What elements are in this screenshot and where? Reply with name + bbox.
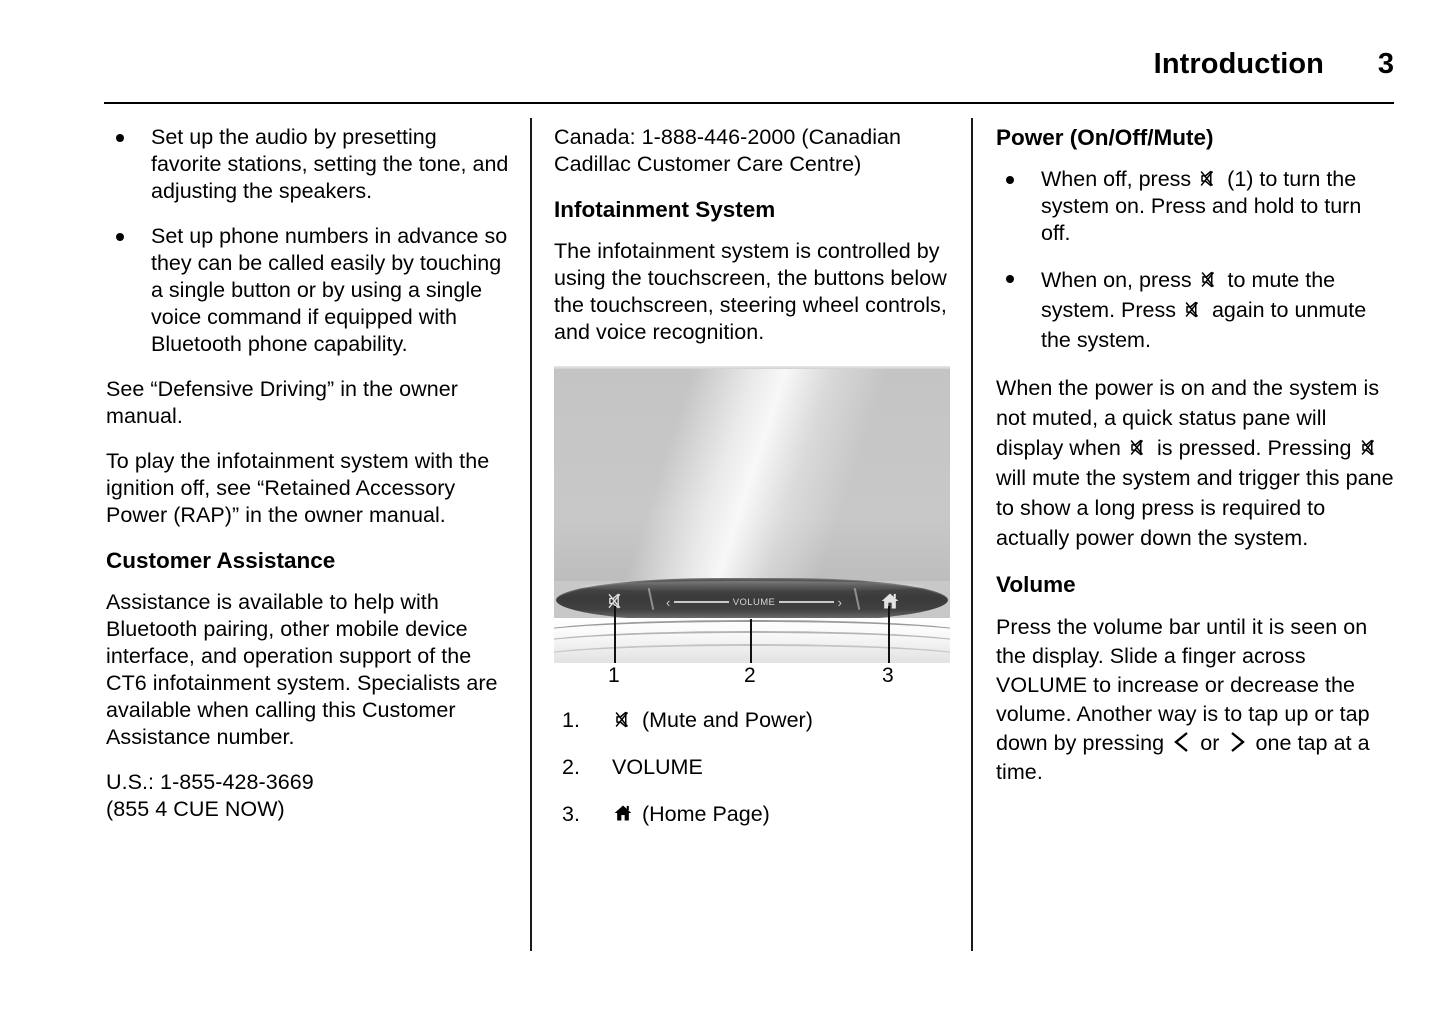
mute-icon bbox=[1183, 299, 1205, 320]
home-icon[interactable] bbox=[880, 591, 900, 611]
volume-chevron-left-icon[interactable]: ‹ bbox=[666, 596, 670, 609]
page-title: Introduction bbox=[1154, 48, 1324, 81]
paragraph-defensive-driving: See “Defensive Driving” in the owner man… bbox=[106, 376, 510, 430]
heading-infotainment-system: Infotainment System bbox=[554, 196, 956, 224]
bezel-tick-right-icon bbox=[854, 588, 860, 610]
paragraph-infotainment: The infotainment system is controlled by… bbox=[554, 238, 956, 346]
column-1: Set up the audio by presetting favorite … bbox=[106, 124, 510, 823]
list-item: 3. (Home Page) bbox=[554, 801, 950, 828]
legend-text: VOLUME bbox=[612, 755, 703, 779]
legend-text: (Mute and Power) bbox=[642, 708, 813, 732]
home-icon bbox=[613, 803, 635, 824]
infotainment-figure: ‹ VOLUME › bbox=[554, 366, 950, 828]
heading-volume: Volume bbox=[996, 571, 1396, 599]
bullet-text-part1: When off, press bbox=[1041, 167, 1191, 191]
paragraph-assistance: Assistance is available to help with Blu… bbox=[106, 589, 510, 751]
phone-canada: Canada: 1-888-446-2000 (Canadian Cadilla… bbox=[554, 124, 956, 178]
chevron-left-icon bbox=[1172, 730, 1192, 754]
legend-text: (Home Page) bbox=[642, 802, 770, 826]
power-bullet-list: When off, press (1) to turn the system o… bbox=[996, 166, 1396, 355]
column-2: Canada: 1-888-446-2000 (Canadian Cadilla… bbox=[554, 124, 956, 848]
bullet-dot-icon bbox=[116, 233, 124, 241]
volume-slider[interactable]: ‹ VOLUME › bbox=[666, 594, 842, 610]
bullet-text: Set up the audio by presetting favorite … bbox=[151, 125, 508, 203]
volume-chevron-right-icon[interactable]: › bbox=[838, 596, 842, 609]
mute-icon bbox=[613, 709, 635, 730]
legend-number: 2. bbox=[562, 754, 596, 781]
mute-icon bbox=[1198, 168, 1220, 189]
volume-line-left bbox=[674, 601, 728, 603]
setup-bullet-list: Set up the audio by presetting favorite … bbox=[106, 124, 510, 358]
mute-icon[interactable] bbox=[606, 591, 627, 611]
bezel-tick-left-icon bbox=[648, 588, 654, 610]
paragraph-quick-status-pane: When the power is on and the system is n… bbox=[996, 373, 1396, 553]
callout-leader-1 bbox=[614, 606, 616, 663]
page-number: 3 bbox=[1368, 48, 1394, 81]
phone-us-line2: (855 4 CUE NOW) bbox=[106, 797, 285, 821]
paragraph-volume: Press the volume bar until it is seen on… bbox=[996, 613, 1396, 787]
mute-icon bbox=[1359, 437, 1381, 458]
touchscreen-display bbox=[554, 366, 950, 581]
callout-leader-2 bbox=[750, 619, 752, 663]
volume-line-right bbox=[779, 601, 833, 603]
callout-leader-3 bbox=[888, 606, 890, 663]
mute-icon bbox=[1128, 437, 1150, 458]
heading-power: Power (On/Off/Mute) bbox=[996, 124, 1396, 152]
column-divider-left bbox=[530, 118, 532, 951]
list-item: 1. (Mute and Power) bbox=[554, 707, 950, 734]
list-item: When on, press to mute the system. Press bbox=[996, 265, 1396, 355]
list-item: Set up phone numbers in advance so they … bbox=[106, 223, 510, 358]
bullet-dot-icon bbox=[1006, 275, 1014, 283]
manual-page: Introduction 3 Set up the audio by prese… bbox=[0, 0, 1445, 1026]
list-item: When off, press (1) to turn the system o… bbox=[996, 166, 1396, 247]
callout-number-1: 1 bbox=[608, 663, 620, 689]
phone-us-line1: U.S.: 1-855-428-3669 bbox=[106, 770, 314, 794]
status-text-part2: is pressed. Pressing bbox=[1157, 436, 1352, 460]
mute-icon bbox=[1199, 269, 1221, 290]
volume-text-or: or bbox=[1200, 731, 1219, 755]
list-item: Set up the audio by presetting favorite … bbox=[106, 124, 510, 205]
callout-numbers: 1 2 3 bbox=[554, 663, 950, 693]
status-text-part3: will mute the system and trigger this pa… bbox=[996, 466, 1394, 550]
bullet-text: Set up phone numbers in advance so they … bbox=[151, 224, 507, 356]
infotainment-photo: ‹ VOLUME › bbox=[554, 366, 950, 663]
volume-label: VOLUME bbox=[733, 597, 776, 608]
heading-customer-assistance: Customer Assistance bbox=[106, 547, 510, 575]
phone-us: U.S.: 1-855-428-3669 (855 4 CUE NOW) bbox=[106, 769, 510, 823]
paragraph-retained-accessory-power: To play the infotainment system with the… bbox=[106, 448, 510, 529]
display-top-edge bbox=[554, 366, 950, 369]
bullet-dot-icon bbox=[1006, 176, 1014, 184]
header-rule bbox=[104, 102, 1394, 104]
callout-number-2: 2 bbox=[744, 663, 756, 689]
legend-number: 3. bbox=[562, 801, 596, 828]
figure-legend-list: 1. (Mute and Power) 2. VOLUME 3 bbox=[554, 707, 950, 828]
legend-number: 1. bbox=[562, 707, 596, 734]
column-3: Power (On/Off/Mute) When off, press (1) … bbox=[996, 124, 1396, 805]
bullet-text-part1: When on, press bbox=[1041, 268, 1192, 292]
callout-number-3: 3 bbox=[882, 663, 894, 689]
chevron-right-icon bbox=[1227, 730, 1247, 754]
column-divider-right bbox=[971, 118, 973, 951]
bullet-dot-icon bbox=[116, 134, 124, 142]
page-header: Introduction 3 bbox=[104, 48, 1394, 104]
list-item: 2. VOLUME bbox=[554, 754, 950, 781]
